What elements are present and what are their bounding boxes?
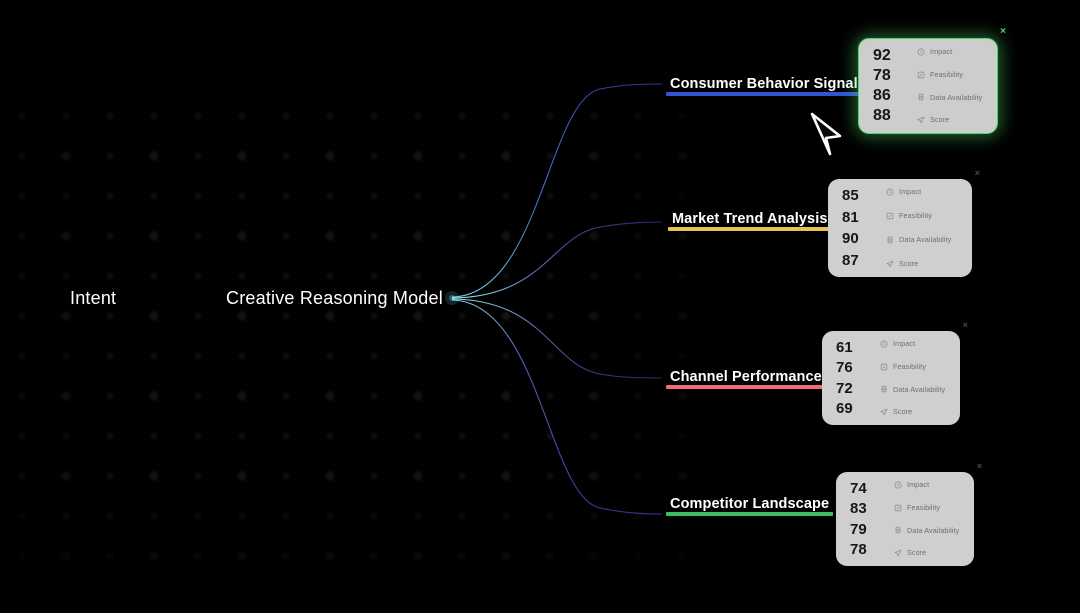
clock-icon — [894, 481, 902, 489]
metric-label: Score — [907, 549, 926, 556]
branch-underline — [666, 385, 826, 389]
metric-value: 78 — [850, 542, 884, 557]
metric-label: Impact — [893, 340, 915, 347]
metric-row-impact: Impact — [894, 481, 962, 489]
send-icon — [894, 549, 902, 557]
tag-icon — [917, 71, 925, 79]
metric-value: 81 — [842, 210, 876, 225]
metric-card-competitor-landscape[interactable]: × 74 83 79 78 Impact Feasibility Data Av… — [836, 472, 974, 566]
metric-labels-column: Impact Feasibility Data Availability Sco… — [917, 48, 985, 124]
metric-row-score: Score — [894, 549, 962, 557]
branch-label-competitor-landscape[interactable]: Competitor Landscape — [666, 496, 833, 516]
metric-label: Data Availability — [930, 94, 982, 101]
metric-labels-column: Impact Feasibility Data Availability Sco… — [880, 340, 948, 416]
mouse-pointer-icon — [806, 110, 846, 162]
node-intent[interactable]: Intent — [70, 288, 116, 309]
metric-row-impact: Impact — [880, 340, 948, 348]
metric-value: 78 — [873, 68, 907, 84]
close-icon[interactable]: × — [963, 321, 968, 330]
metric-value: 87 — [842, 253, 876, 268]
metric-row-data-availability: Data Availability — [894, 526, 962, 534]
metric-card-market-trend-analysis[interactable]: × 85 81 90 87 Impact Feasibility Data Av… — [828, 179, 972, 277]
metric-value: 92 — [873, 48, 907, 64]
metric-row-data-availability: Data Availability — [917, 93, 985, 101]
branch-label-text: Competitor Landscape — [670, 496, 829, 512]
metric-label: Score — [899, 260, 918, 267]
metric-values-column: 92 78 86 88 — [873, 48, 907, 124]
metric-value: 76 — [836, 360, 870, 375]
metric-row-data-availability: Data Availability — [880, 385, 948, 393]
branch-label-text: Consumer Behavior Signals — [670, 76, 866, 92]
metric-label: Feasibility — [930, 71, 963, 78]
metric-value: 86 — [873, 88, 907, 104]
metric-label: Impact — [930, 48, 952, 55]
metric-value: 90 — [842, 231, 876, 246]
metric-row-feasibility: Feasibility — [894, 504, 962, 512]
metric-value: 79 — [850, 522, 884, 537]
clock-icon — [917, 48, 925, 56]
metric-row-feasibility: Feasibility — [886, 212, 960, 220]
tag-icon — [886, 212, 894, 220]
metric-label: Score — [893, 408, 912, 415]
metric-row-score: Score — [886, 260, 960, 268]
tag-icon — [880, 363, 888, 371]
metric-row-score: Score — [880, 408, 948, 416]
metric-labels-column: Impact Feasibility Data Availability Sco… — [886, 188, 960, 268]
metric-value: 85 — [842, 188, 876, 203]
background-dot-texture — [0, 96, 700, 566]
metric-value: 74 — [850, 481, 884, 496]
send-icon — [880, 408, 888, 416]
database-icon — [917, 93, 925, 101]
branch-label-text: Market Trend Analysis — [672, 211, 827, 227]
metric-values-column: 61 76 72 69 — [836, 340, 870, 416]
metric-label: Data Availability — [907, 527, 959, 534]
send-icon — [886, 260, 894, 268]
metric-value: 69 — [836, 401, 870, 416]
metric-values-column: 85 81 90 87 — [842, 188, 876, 268]
clock-icon — [886, 188, 894, 196]
metric-label: Data Availability — [893, 386, 945, 393]
metric-row-impact: Impact — [917, 48, 985, 56]
metric-card-channel-performance[interactable]: × 61 76 72 69 Impact Feasibility Data Av… — [822, 331, 960, 425]
metric-row-data-availability: Data Availability — [886, 236, 960, 244]
metric-labels-column: Impact Feasibility Data Availability Sco… — [894, 481, 962, 557]
branch-label-consumer-behavior-signals[interactable]: Consumer Behavior Signals — [666, 76, 870, 96]
clock-icon — [880, 340, 888, 348]
metric-label: Impact — [899, 188, 921, 195]
database-icon — [886, 236, 894, 244]
branch-underline — [666, 92, 870, 96]
branch-underline — [668, 227, 831, 231]
metric-values-column: 74 83 79 78 — [850, 481, 884, 557]
metric-row-feasibility: Feasibility — [917, 71, 985, 79]
branch-label-market-trend-analysis[interactable]: Market Trend Analysis — [668, 211, 831, 231]
metric-row-impact: Impact — [886, 188, 960, 196]
metric-value: 88 — [873, 108, 907, 124]
metric-value: 61 — [836, 340, 870, 355]
database-icon — [880, 385, 888, 393]
metric-row-score: Score — [917, 116, 985, 124]
database-icon — [894, 526, 902, 534]
metric-card-consumer-behavior-signals[interactable]: × 92 78 86 88 Impact Feasibility Data Av… — [858, 38, 998, 134]
close-icon[interactable]: × — [977, 462, 982, 471]
send-icon — [917, 116, 925, 124]
branch-label-text: Channel Performance — [670, 369, 822, 385]
branch-underline — [666, 512, 833, 516]
metric-label: Impact — [907, 481, 929, 488]
node-creative-reasoning-model[interactable]: Creative Reasoning Model — [226, 288, 443, 309]
metric-label: Score — [930, 116, 949, 123]
tag-icon — [894, 504, 902, 512]
close-icon[interactable]: × — [975, 169, 980, 178]
metric-row-feasibility: Feasibility — [880, 363, 948, 371]
metric-label: Feasibility — [893, 363, 926, 370]
metric-value: 83 — [850, 501, 884, 516]
close-icon[interactable]: × — [1000, 27, 1006, 37]
mindmap-canvas: Intent Creative Reasoning Model Consumer… — [0, 0, 1080, 613]
metric-label: Feasibility — [907, 504, 940, 511]
metric-label: Data Availability — [899, 236, 951, 243]
metric-label: Feasibility — [899, 212, 932, 219]
branch-label-channel-performance[interactable]: Channel Performance — [666, 369, 826, 389]
metric-value: 72 — [836, 381, 870, 396]
